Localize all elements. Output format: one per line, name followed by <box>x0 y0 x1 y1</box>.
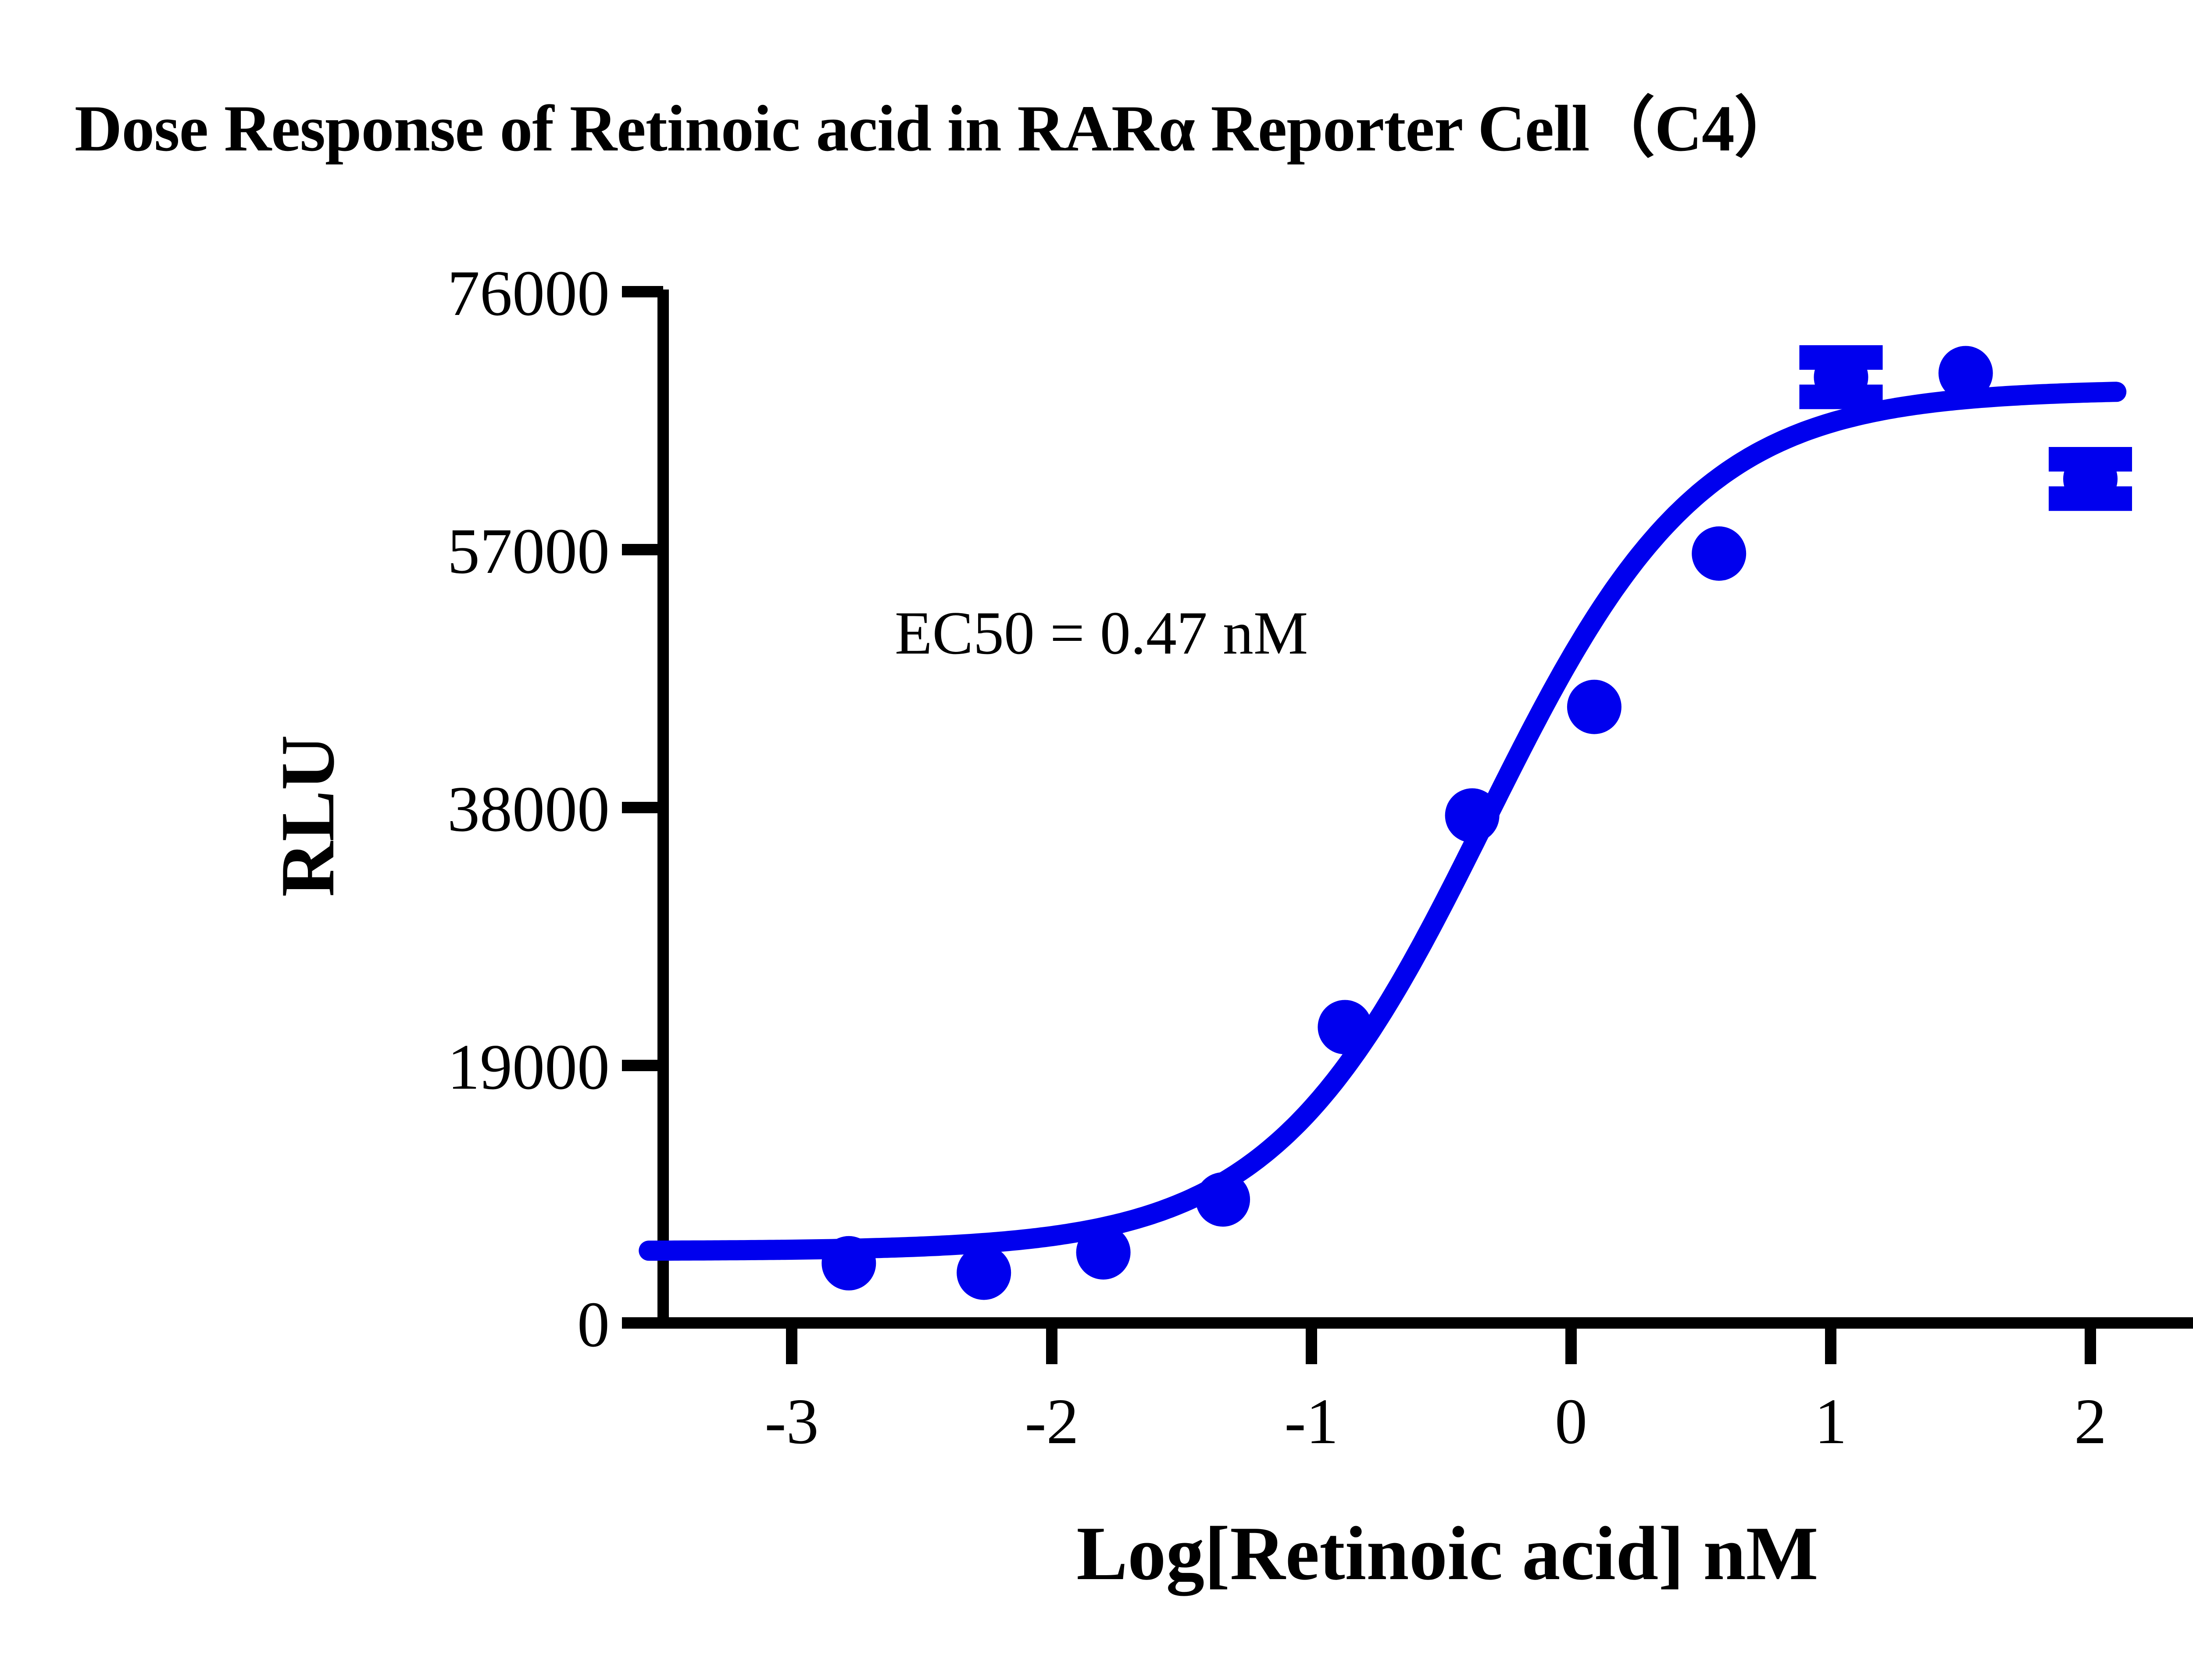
data-point-marker <box>2063 452 2118 506</box>
chart-plot-area: 76000 57000 38000 19000 0 -3 -2 -1 0 1 2… <box>0 0 2193 1680</box>
x-tick-label: -3 <box>764 1386 818 1458</box>
y-axis-tick-labels: 76000 57000 38000 19000 0 <box>447 257 610 1361</box>
data-point-marker <box>1318 1000 1372 1054</box>
x-tick-label: -1 <box>1284 1386 1338 1458</box>
y-tick-label: 76000 <box>447 257 610 329</box>
y-axis-title: RLU <box>265 735 350 897</box>
chart-page: Dose Response of Retinoic acid in RARα R… <box>0 0 2193 1680</box>
x-tick-label: -2 <box>1025 1386 1079 1458</box>
ec50-annotation: EC50 = 0.47 nM <box>895 599 1308 667</box>
y-tick-label: 38000 <box>447 773 610 845</box>
data-point-marker <box>1076 1225 1131 1280</box>
data-point-marker <box>1445 788 1500 843</box>
data-point-markers <box>821 346 2118 1300</box>
data-point-marker <box>821 1236 876 1290</box>
y-tick-label: 0 <box>577 1289 610 1361</box>
data-point-marker <box>1814 350 1868 404</box>
x-axis-ticks <box>792 1323 2090 1364</box>
x-tick-label: 0 <box>1555 1386 1587 1458</box>
x-axis-tick-labels: -3 -2 -1 0 1 2 <box>764 1386 2107 1458</box>
data-point-marker <box>957 1246 1011 1300</box>
x-tick-label: 1 <box>1814 1386 1847 1458</box>
data-point-marker <box>1567 680 1622 734</box>
x-tick-label: 2 <box>2074 1386 2107 1458</box>
y-tick-label: 19000 <box>447 1031 610 1103</box>
data-point-marker <box>1692 526 1746 581</box>
data-point-marker <box>1939 346 1993 400</box>
data-point-marker <box>1196 1172 1250 1227</box>
y-tick-label: 57000 <box>447 515 610 587</box>
y-axis-ticks <box>622 292 663 1323</box>
x-axis-title: Log[Retinoic acid] nM <box>1076 1511 1818 1596</box>
fit-curve-line <box>649 392 2116 1251</box>
